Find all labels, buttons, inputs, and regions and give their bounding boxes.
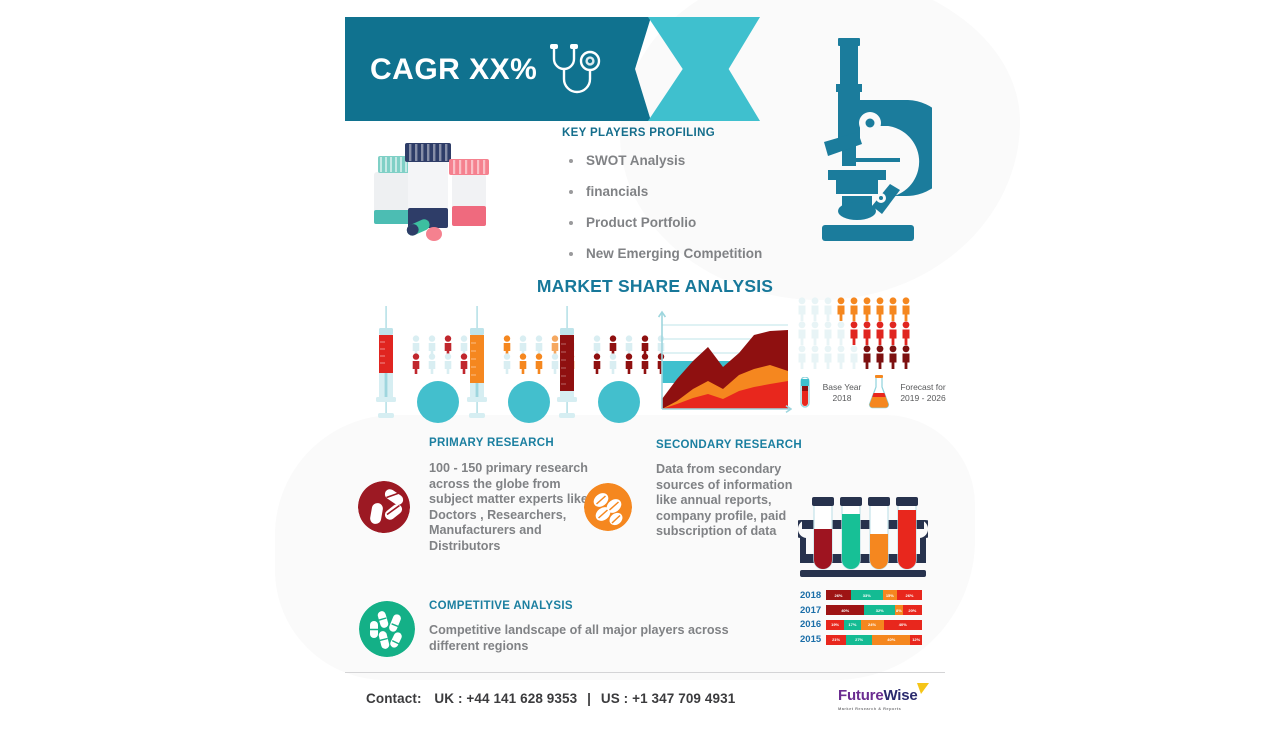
banner-notch (613, 17, 651, 121)
tube-green (840, 497, 862, 569)
list-item-label: New Emerging Competition (586, 246, 762, 261)
logo-tagline: Market Research & Reports (838, 706, 938, 711)
bar-track: 19% 17% 24% 40% (826, 620, 922, 630)
table-row: 2018 26% 33% 15% 26% (800, 589, 925, 602)
pill-bottles-icon (368, 138, 498, 248)
key-players-block: KEY PLAYERS PROFILING SWOT Analysis fina… (562, 127, 812, 277)
legend-forecast-line1: Forecast for (900, 382, 945, 392)
key-players-list: SWOT Analysis financials Product Portfol… (562, 153, 812, 261)
bullet-icon (569, 252, 573, 256)
market-share-area-chart (652, 305, 792, 417)
infographic-canvas: CAGR XX% (0, 0, 1280, 731)
futurewise-logo[interactable]: FutureWise Market Research & Reports (838, 687, 938, 715)
contact-line: Contact: UK : +44 141 628 9353 | US : +1… (366, 691, 735, 706)
competitive-analysis-body: Competitive landscape of all major playe… (429, 623, 729, 654)
bar-year-label: 2015 (800, 634, 826, 645)
contact-uk: UK : +44 141 628 9353 (434, 691, 577, 706)
footer-divider (345, 672, 945, 673)
bar-segment: 33% (851, 590, 883, 600)
legend-base-line2: 2018 (833, 393, 852, 403)
capsules-circle-icon (359, 601, 415, 657)
teal-circle-3 (598, 381, 640, 423)
teal-circle-2 (508, 381, 550, 423)
contact-us: US : +1 347 709 4931 (601, 691, 735, 706)
microscope-icon (812, 20, 932, 250)
tube-red (896, 497, 918, 569)
bullet-icon (569, 190, 573, 194)
bar-segment: 8% (895, 605, 903, 615)
competitive-analysis-title: COMPETITIVE ANALYSIS (429, 600, 573, 612)
bar-track: 40% 32% 8% 20% (826, 605, 922, 615)
key-players-title: KEY PLAYERS PROFILING (562, 127, 812, 139)
legend-forecast: Forecast for 2019 - 2026 (892, 382, 954, 404)
list-item: New Emerging Competition (562, 246, 812, 261)
list-item: SWOT Analysis (562, 153, 812, 168)
legend-base-year: Base Year 2018 (816, 382, 868, 404)
bar-track: 21% 27% 40% 12% (826, 635, 922, 645)
cagr-banner: CAGR XX% (345, 17, 760, 121)
syringe-orange-icon (458, 306, 498, 418)
bar-segment: 17% (844, 620, 860, 630)
tube-orange (868, 497, 890, 569)
table-row: 2015 21% 27% 40% 12% (800, 633, 925, 646)
secondary-research-body: Data from secondary sources of informati… (656, 462, 801, 540)
bar-segment: 26% (826, 590, 851, 600)
yearly-share-bars: 2018 26% 33% 15% 26% 2017 40% 32% 8% 20%… (800, 589, 925, 648)
pills-circle-icon (358, 481, 410, 533)
bar-segment: 40% (884, 620, 922, 630)
bar-segment: 12% (910, 635, 922, 645)
contact-separator: | (587, 691, 591, 706)
banner-light-chevron (648, 17, 760, 121)
primary-research-body: 100 - 150 primary research across the gl… (429, 461, 589, 555)
list-item-label: Product Portfolio (586, 215, 696, 230)
bar-track: 26% 33% 15% 26% (826, 590, 922, 600)
contact-label: Contact: (366, 691, 422, 706)
bar-segment: 20% (903, 605, 922, 615)
market-share-title: MARKET SHARE ANALYSIS (525, 276, 785, 297)
flask-icon (868, 375, 890, 409)
bar-segment: 15% (883, 590, 897, 600)
bar-segment: 19% (826, 620, 844, 630)
table-row: 2016 19% 17% 24% 40% (800, 619, 925, 632)
bar-segment: 40% (872, 635, 910, 645)
bar-segment: 26% (897, 590, 922, 600)
people-matrix-chart (797, 297, 917, 369)
secondary-research-title: SECONDARY RESEARCH (656, 439, 802, 451)
tube-darkred (812, 497, 834, 569)
list-item: financials (562, 184, 812, 199)
bar-segment: 24% (861, 620, 884, 630)
bar-year-label: 2017 (800, 605, 826, 616)
pills-circle-icon-secondary (584, 483, 632, 531)
logo-future-text: Future (838, 687, 883, 704)
stethoscope-icon (540, 39, 612, 111)
syringe-red-icon (367, 306, 407, 418)
bar-year-label: 2016 (800, 619, 826, 630)
legend-forecast-line2: 2019 - 2026 (900, 393, 945, 403)
legend-base-line1: Base Year (823, 382, 862, 392)
market-share-legend: Base Year 2018 Forecast for 2019 - 2026 (798, 373, 948, 413)
list-item-label: financials (586, 184, 648, 199)
table-row: 2017 40% 32% 8% 20% (800, 604, 925, 617)
bar-segment: 21% (826, 635, 846, 645)
bar-year-label: 2018 (800, 590, 826, 601)
logo-wise-text: Wise (883, 687, 917, 704)
list-item: Product Portfolio (562, 215, 812, 230)
test-tube-rack-icon (798, 492, 928, 580)
list-item-label: SWOT Analysis (586, 153, 685, 168)
bullet-icon (569, 159, 573, 163)
bullet-icon (569, 221, 573, 225)
bar-segment: 40% (826, 605, 864, 615)
bar-segment: 32% (864, 605, 895, 615)
teal-circle-1 (417, 381, 459, 423)
test-tube-icon (798, 377, 812, 409)
primary-research-title: PRIMARY RESEARCH (429, 437, 554, 449)
syringe-darkred-icon (548, 306, 588, 418)
cagr-headline: CAGR XX% (370, 53, 537, 87)
logo-flag-icon (916, 682, 930, 696)
bar-segment: 27% (846, 635, 872, 645)
